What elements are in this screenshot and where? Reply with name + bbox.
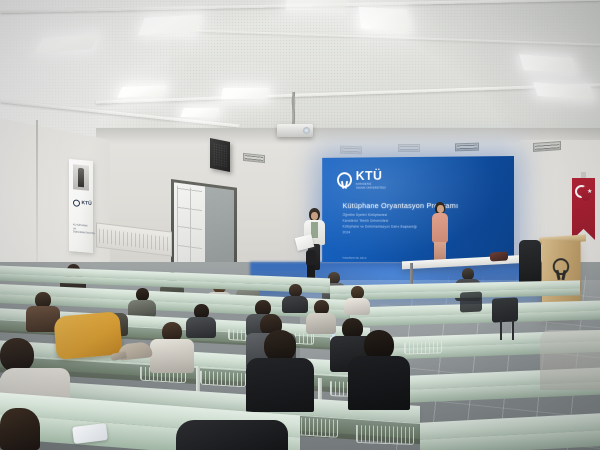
audience-body	[150, 339, 194, 373]
audience-seated	[150, 322, 194, 372]
ceiling-light-3	[117, 85, 167, 98]
wall-vent-2	[340, 146, 362, 155]
audience-seated-foreground	[348, 330, 410, 408]
ceiling-projector-icon	[277, 124, 313, 137]
lecture-hall-photo: KTÜ KÜTÜPHANE VE DOKÜMANTASYON KTÜ KARAD…	[0, 0, 600, 450]
slide-surface: KTÜ KARADENİZ TEKNİK ÜNİVERSİTESİ Kütüph…	[322, 156, 514, 268]
ktu-emblem-icon	[73, 199, 80, 207]
audience-body	[344, 298, 370, 315]
bench-basket	[356, 425, 414, 445]
lectern-person-body	[519, 240, 541, 284]
standing-person-face	[437, 205, 444, 213]
audience-head	[0, 338, 34, 372]
wall-vent-4	[455, 143, 479, 152]
presenter-face	[311, 212, 318, 220]
audience-right-edge	[540, 330, 600, 390]
bench-apron	[420, 430, 600, 450]
projection-screen: KTÜ KARADENİZ TEKNİK ÜNİVERSİTESİ Kütüph…	[322, 156, 514, 268]
ceiling-light-4	[180, 108, 220, 117]
audience-seated-foreground	[246, 330, 314, 410]
banner-caption-line2: DOKÜMANTASYON	[73, 231, 90, 236]
ceiling-light-5	[221, 88, 269, 99]
dark-bag-foreground	[176, 420, 288, 450]
audience-seated	[282, 284, 308, 312]
door-panel-grid	[174, 182, 205, 271]
standing-person-top	[432, 213, 448, 243]
audience-foreground-corner	[0, 408, 46, 450]
banner-caption: KÜTÜPHANE VE DOKÜMANTASYON	[73, 223, 90, 235]
audience-body	[540, 330, 600, 390]
banner-logo: KTÜ	[73, 199, 92, 208]
item-on-table	[490, 252, 508, 262]
slide-footer: kutuphane.ktu.edu.tr	[343, 256, 367, 260]
ktu-emblem-icon	[553, 258, 569, 275]
chair-leg	[512, 320, 514, 340]
ceiling-light-6	[358, 7, 409, 31]
wall-speaker-icon	[210, 138, 230, 172]
left-wall-corner	[36, 120, 38, 270]
banner-abbr: KTÜ	[82, 201, 92, 207]
ktu-emblem-icon	[337, 172, 352, 188]
audience-head	[0, 408, 40, 450]
banner-photo	[73, 164, 89, 190]
chair-leg	[500, 320, 502, 340]
person-standing-left-edge	[305, 250, 317, 280]
slide-logo: KTÜ KARADENİZ TEKNİK ÜNİVERSİTESİ	[337, 169, 386, 190]
slide-logo-subtext-1: KARADENİZ	[356, 183, 386, 186]
wall-vent-3	[398, 144, 420, 152]
slide-logo-abbr: KTÜ	[356, 169, 386, 182]
audience-seated	[344, 286, 370, 314]
presenter-inner-top	[311, 222, 318, 238]
audience-body	[348, 356, 410, 410]
ktu-rollup-banner: KTÜ KÜTÜPHANE VE DOKÜMANTASYON	[69, 159, 93, 253]
audience-seated	[128, 288, 156, 316]
projector-cables	[286, 96, 300, 126]
bench-basket	[200, 371, 246, 388]
audience-body	[282, 296, 308, 313]
chair[interactable]	[492, 297, 518, 322]
ceiling-light-9	[286, 0, 347, 10]
person-left-body	[306, 250, 316, 266]
ceiling-light-1	[138, 15, 202, 36]
audience-body	[246, 358, 314, 412]
star-icon: ★	[587, 189, 592, 195]
slide-logo-subtext-2: TEKNİK ÜNİVERSİTESİ	[356, 187, 386, 190]
slide-title: Kütüphane Oryantasyon Programı	[343, 201, 506, 210]
chair[interactable]	[460, 291, 482, 312]
